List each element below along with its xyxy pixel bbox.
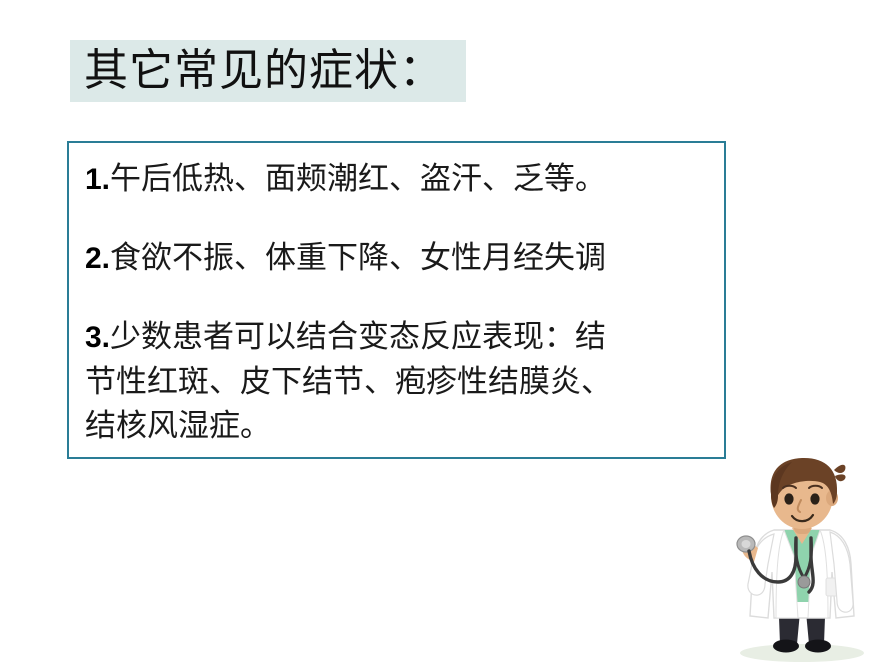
list-item: 2.食欲不振、体重下降、女性月经失调 bbox=[85, 236, 708, 281]
list-item: 3.少数患者可以结合变态反应表现：结 节性红斑、皮下结节、疱疹性结膜炎、 结核风… bbox=[85, 315, 708, 448]
title-band: 其它常见的症状： bbox=[70, 40, 466, 102]
list-item-number: 3. bbox=[85, 321, 110, 354]
list-item-text: 结核风湿症。 bbox=[85, 408, 271, 443]
list-item-text: 午后低热、面颊潮红、盗汗、乏等。 bbox=[110, 161, 606, 196]
list-item-text: 节性红斑、皮下结节、疱疹性结膜炎、 bbox=[85, 364, 612, 399]
list-item-line: 2.食欲不振、体重下降、女性月经失调 bbox=[85, 236, 708, 281]
symptom-list-box: 1.午后低热、面颊潮红、盗汗、乏等。 2.食欲不振、体重下降、女性月经失调 3.… bbox=[67, 141, 726, 459]
list-item-number: 1. bbox=[85, 163, 110, 196]
page-title: 其它常见的症状： bbox=[84, 49, 444, 93]
slide-canvas: 其它常见的症状： 1.午后低热、面颊潮红、盗汗、乏等。 2.食欲不振、体重下降、… bbox=[0, 0, 888, 665]
list-item-line: 结核风湿症。 bbox=[85, 404, 708, 448]
list-item-line: 1.午后低热、面颊潮红、盗汗、乏等。 bbox=[85, 157, 708, 202]
list-item-text: 食欲不振、体重下降、女性月经失调 bbox=[110, 240, 606, 275]
list-item-number: 2. bbox=[85, 242, 110, 275]
list-item-text: 少数患者可以结合变态反应表现：结 bbox=[110, 319, 606, 354]
list-item: 1.午后低热、面颊潮红、盗汗、乏等。 bbox=[85, 157, 708, 202]
list-item-line: 3.少数患者可以结合变态反应表现：结 bbox=[85, 315, 708, 360]
doctor-illustration bbox=[716, 452, 888, 665]
list-item-line: 节性红斑、皮下结节、疱疹性结膜炎、 bbox=[85, 360, 708, 404]
